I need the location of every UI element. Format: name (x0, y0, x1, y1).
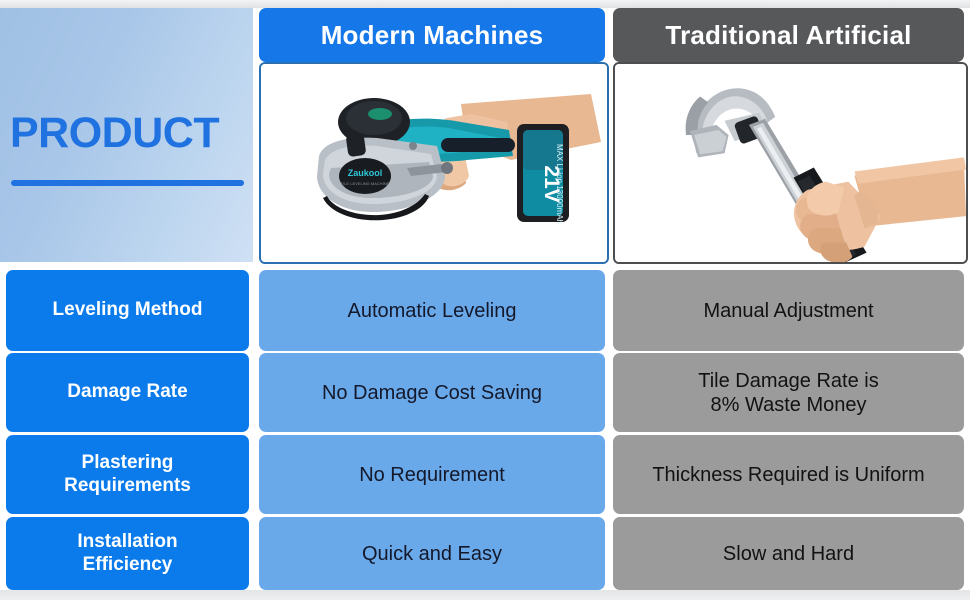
claw-hammer-illustration (615, 64, 966, 264)
row-modern-installation-efficiency: Quick and Easy (259, 517, 605, 590)
product-image-traditional-hammer (613, 62, 968, 264)
row-label-damage-rate: Damage Rate (6, 353, 249, 432)
tile-leveling-machine-illustration: 21V MAX Li-ion 13000mAh Zaukool TILE LEV… (261, 64, 607, 262)
row-label-leveling-method: Leveling Method (6, 270, 249, 351)
row-traditional-damage-rate: Tile Damage Rate is8% Waste Money (613, 353, 964, 432)
svg-text:Zaukool: Zaukool (348, 168, 383, 178)
bottom-edge-strip (0, 590, 970, 600)
row-traditional-leveling-method: Manual Adjustment (613, 270, 964, 351)
svg-text:TILE LEVELING MACHINE: TILE LEVELING MACHINE (341, 181, 390, 186)
row-traditional-plastering-requirements: Thickness Required is Uniform (613, 435, 964, 514)
row-label-plastering-requirements: PlasteringRequirements (6, 435, 249, 514)
svg-text:MAX Li-ion 13000mAh: MAX Li-ion 13000mAh (555, 144, 564, 224)
comparison-infographic: PRODUCT Modern Machines Traditional Arti… (0, 0, 970, 600)
column-header-traditional-artificial: Traditional Artificial (613, 8, 964, 62)
title-underline-rule (11, 180, 244, 186)
product-panel: PRODUCT (0, 8, 253, 262)
row-traditional-installation-efficiency: Slow and Hard (613, 517, 964, 590)
row-modern-damage-rate: No Damage Cost Saving (259, 353, 605, 432)
row-modern-leveling-method: Automatic Leveling (259, 270, 605, 351)
column-header-modern-machines: Modern Machines (259, 8, 605, 62)
row-modern-plastering-requirements: No Requirement (259, 435, 605, 514)
page-title: PRODUCT (10, 112, 246, 155)
row-label-installation-efficiency: InstallationEfficiency (6, 517, 249, 590)
product-image-modern-machine: 21V MAX Li-ion 13000mAh Zaukool TILE LEV… (259, 62, 609, 264)
top-edge-strip (0, 0, 970, 8)
